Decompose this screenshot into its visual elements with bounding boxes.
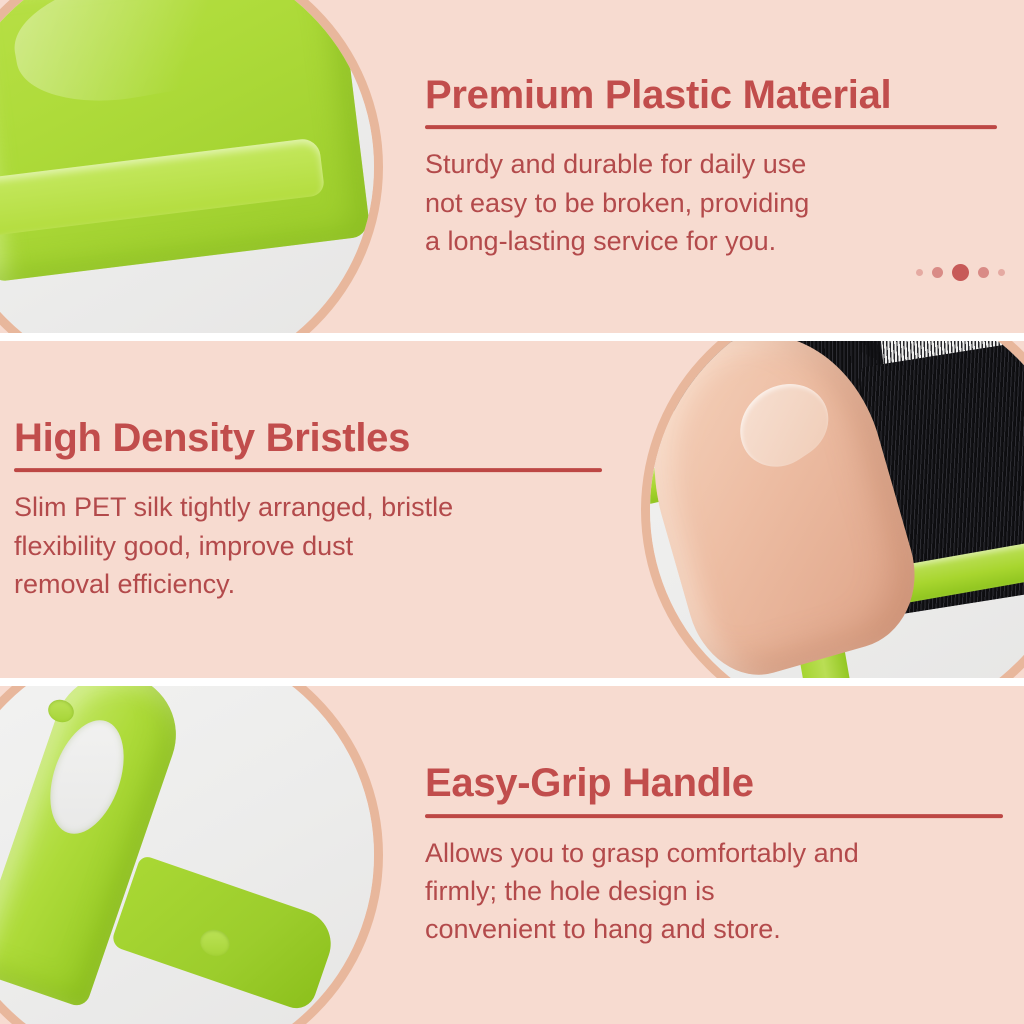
feature-description-line: firmly; the hole design is [425, 872, 1010, 910]
feature-description-3: Allows you to grasp comfortably and firm… [425, 834, 1010, 949]
thumbnail-plate [724, 367, 843, 481]
decorative-dot-cluster-1 [916, 264, 1005, 281]
product-feature-infographic: Premium Plastic Material Sturdy and dura… [0, 0, 1024, 1024]
product-photo-handle [0, 686, 374, 1024]
feature-description-line: Slim PET silk tightly arranged, bristle [14, 488, 604, 526]
feature-description-line: convenient to hang and store. [425, 911, 1010, 949]
feature-panel-easy-grip-handle: Easy-Grip Handle Allows you to grasp com… [0, 686, 1024, 1024]
decorative-dot [978, 267, 989, 278]
brush-scene [650, 341, 1024, 678]
feature-panel-high-density-bristles: High Density Bristles Slim PET silk tigh… [0, 341, 1024, 678]
feature-panel-premium-plastic-material: Premium Plastic Material Sturdy and dura… [0, 0, 1024, 333]
panel-divider [0, 678, 1024, 686]
feature-title-underline-2 [14, 468, 602, 472]
feature-title-2: High Density Bristles [14, 416, 604, 461]
feature-description-line: flexibility good, improve dust [14, 527, 604, 565]
feature-title-3: Easy-Grip Handle [425, 761, 1010, 806]
decorative-dot [998, 269, 1005, 276]
feature-description-1: Sturdy and durable for daily use not eas… [425, 145, 1010, 260]
decorative-dot [952, 264, 969, 281]
feature-description-line: a long-lasting service for you. [425, 222, 1010, 260]
decorative-dot [932, 267, 943, 278]
feature-description-line: removal efficiency. [14, 565, 604, 603]
product-photo-dustpan [0, 0, 374, 333]
product-photo-bristles [650, 341, 1024, 678]
feature-description-line: Allows you to grasp comfortably and [425, 834, 1010, 872]
feature-text-column-2: High Density Bristles Slim PET silk tigh… [14, 416, 604, 604]
feature-title-underline-3 [425, 814, 1003, 818]
feature-description-line: Sturdy and durable for daily use [425, 145, 1010, 183]
feature-title-1: Premium Plastic Material [425, 73, 1010, 118]
decorative-dot [916, 269, 923, 276]
feature-description-2: Slim PET silk tightly arranged, bristle … [14, 488, 604, 603]
feature-title-underline-1 [425, 125, 997, 129]
panel-divider [0, 333, 1024, 341]
feature-description-line: not easy to be broken, providing [425, 184, 1010, 222]
feature-text-column-3: Easy-Grip Handle Allows you to grasp com… [425, 761, 1010, 949]
feature-text-column-1: Premium Plastic Material Sturdy and dura… [425, 73, 1010, 261]
